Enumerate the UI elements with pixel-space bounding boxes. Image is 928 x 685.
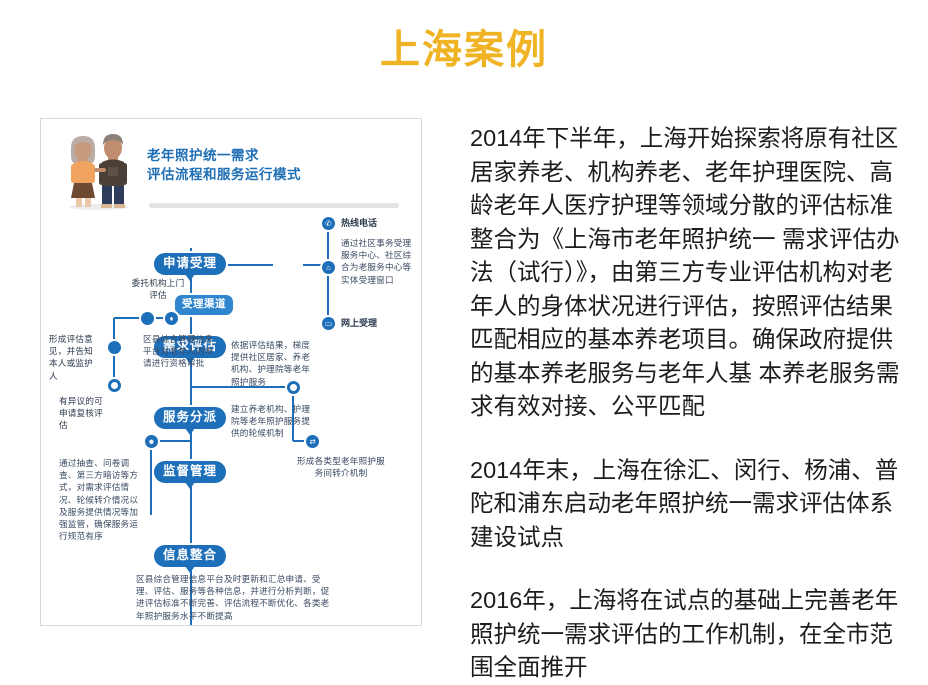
paragraph-3: 2016年，上海将在试点的基础上完善老年照护统一需求评估的工作机制，在全市范围全… (470, 584, 912, 685)
queue-caption: 建立养老机构、护理院等老年照护服务提供的轮候机制 (231, 403, 313, 440)
entrust-dot-icon (141, 312, 154, 325)
flow-node-supervise[interactable]: 监督管理 (154, 461, 226, 483)
flow-node-apply[interactable]: 申请受理 (154, 253, 226, 275)
qualify-caption: 区县综合管理信息平台对老年人的申请进行资格审批 (143, 333, 221, 370)
paragraph-2: 2014年末，上海在徐汇、闵行、杨浦、普陀和浦东启动老年照护统一需求评估体系建设… (470, 454, 912, 555)
infographic-heading-line1: 老年照护统一需求 (147, 146, 397, 165)
integrate-caption: 区县综合管理信息平台及时更新和汇总申请、受理、评估、服务等各种信息，并进行分析判… (136, 573, 336, 622)
person-icon: ☻ (145, 435, 158, 448)
flow-node-integrate[interactable]: 信息整合 (154, 545, 226, 567)
monitor-icon: ▭ (322, 317, 335, 330)
node-tail (185, 428, 195, 435)
infographic-heading: 老年照护统一需求 评估流程和服务运行模式 (147, 146, 397, 184)
online-label: 网上受理 (341, 317, 377, 329)
page-title: 上海案例 (0, 26, 928, 74)
home-icon: ⌂ (322, 261, 335, 274)
phone-icon: ✆ (322, 217, 335, 230)
flow-node-dispatch[interactable]: 服务分派 (154, 407, 226, 429)
window-caption: 通过社区事务受理服务中心、社区综合为老服务中心等实体受理窗口 (341, 237, 419, 286)
opinion-caption: 形成评估意见，并告知本人或监护人 (49, 333, 101, 382)
queue-ring-icon (287, 381, 300, 394)
node-tail (185, 482, 195, 489)
user-icon: ♦ (165, 312, 178, 325)
exchange-icon: ⇄ (306, 435, 319, 448)
grade-caption: 依据评估结果，梯度提供社区居家、养老机构、护理院等老年照护服务 (231, 339, 313, 388)
node-tail (185, 566, 195, 573)
body-text-column: 2014年下半年，上海开始探索将原有社区居家养老、机构养老、老年护理医院、高龄老… (470, 122, 912, 685)
infographic-heading-line2: 评估流程和服务运行模式 (147, 165, 397, 184)
opinion-dot-icon (108, 341, 121, 354)
review-ring-icon (108, 379, 121, 392)
hotline-label: 热线电话 (341, 217, 377, 229)
paragraph-1: 2014年下半年，上海开始探索将原有社区居家养老、机构养老、老年护理医院、高龄老… (470, 122, 912, 424)
review-caption: 有异议的可申请复核评估 (59, 395, 111, 432)
heading-underline (149, 203, 399, 208)
flow-diagram: 申请受理 受理渠道 需求评估 服务分派 监督管理 信息整合 ✆ 热线电话 ⌂ 通… (41, 215, 422, 625)
transfer-caption: 形成各类型老年照护服务间转介机制 (297, 455, 385, 479)
entrust-caption: 委托机构上门评估 (128, 277, 188, 301)
infographic-header: 老年照护统一需求 评估流程和服务运行模式 (41, 119, 422, 215)
supervise-caption: 通过抽查、问卷调查、第三方暗访等方式，对需求评估情况、轮候转介情况以及服务提供情… (59, 457, 145, 542)
infographic-panel: 老年照护统一需求 评估流程和服务运行模式 (40, 118, 422, 626)
elderly-couple-illustration (61, 128, 137, 210)
